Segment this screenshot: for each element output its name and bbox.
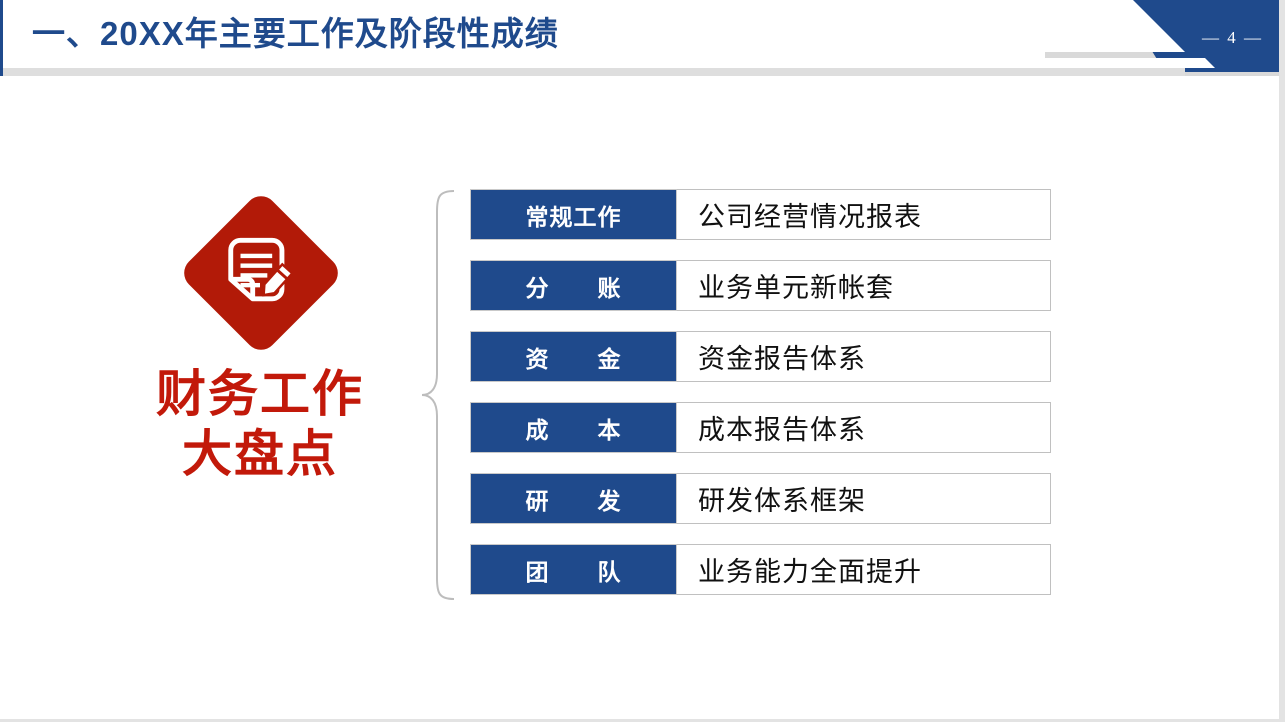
table-row[interactable]: 团 队 业务能力全面提升 [470,544,1051,595]
row-category-label: 团 队 [470,544,677,595]
table-row[interactable]: 常规工作 公司经营情况报表 [470,189,1051,240]
row-detail-text: 业务能力全面提升 [677,544,1051,595]
row-category-label: 常规工作 [470,189,677,240]
slide-right-edge [1279,0,1285,722]
row-detail-text: 研发体系框架 [677,473,1051,524]
badge-caption-line1: 财务工作 [110,364,410,424]
left-curly-brace [421,188,455,602]
page-title: 一、20XX年主要工作及阶段性成绩 [32,13,559,55]
table-row[interactable]: 分 账 业务单元新帐套 [470,260,1051,311]
badge-caption-line2: 大盘点 [110,424,410,484]
header-left-accent-bar [0,0,3,76]
slide-header: 一、20XX年主要工作及阶段性成绩 — 4 — [0,0,1285,68]
row-detail-text: 业务单元新帐套 [677,260,1051,311]
diamond-badge [176,188,344,356]
header-divider-band [3,68,1185,76]
row-category-label: 分 账 [470,260,677,311]
row-category-label: 研 发 [470,473,677,524]
work-summary-table: 常规工作 公司经营情况报表 分 账 业务单元新帐套 资 金 资金报告体系 成 本… [470,189,1051,595]
badge-caption: 财务工作 大盘点 [110,364,410,484]
row-category-label: 资 金 [470,331,677,382]
row-detail-text: 公司经营情况报表 [677,189,1051,240]
page-number: — 4 — [1202,28,1263,48]
document-pencil-icon [221,233,299,311]
row-detail-text: 资金报告体系 [677,331,1051,382]
row-category-label: 成 本 [470,402,677,453]
table-row[interactable]: 资 金 资金报告体系 [470,331,1051,382]
table-row[interactable]: 研 发 研发体系框架 [470,473,1051,524]
finance-badge: 财务工作 大盘点 [110,188,410,484]
row-detail-text: 成本报告体系 [677,402,1051,453]
slide-canvas: 一、20XX年主要工作及阶段性成绩 — 4 — [0,0,1285,722]
table-row[interactable]: 成 本 成本报告体系 [470,402,1051,453]
